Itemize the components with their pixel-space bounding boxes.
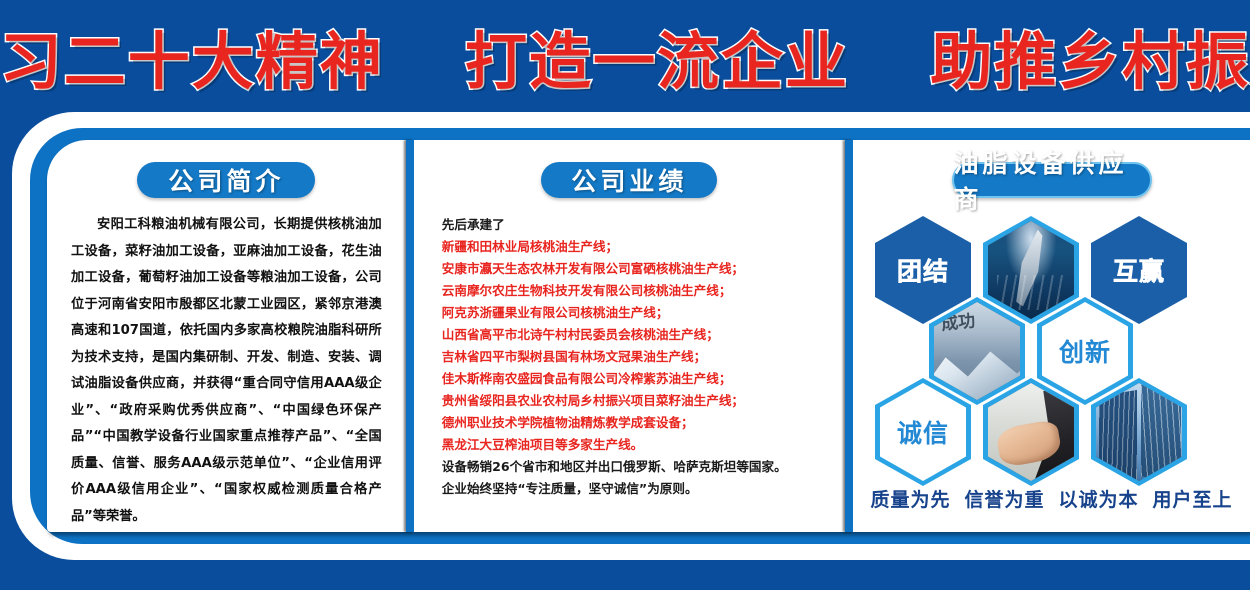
column-divider-1 [406, 140, 414, 532]
performance-project-item: 贵州省绥阳县农业农村局乡村振兴项目菜籽油生产线； [442, 390, 817, 412]
performance-footer-1: 设备畅销26个省市和地区并出口俄罗斯、哈萨克斯坦等国家。 [442, 456, 817, 478]
panel-title-company-intro: 公司简介 [137, 162, 315, 198]
hex-tile-integrity: 诚信 [875, 378, 971, 486]
hex-tile-unity: 团结 [875, 216, 971, 324]
hex-tile-carrier [983, 216, 1079, 324]
skyscraper-photo-icon [1096, 383, 1182, 481]
mountain-climbers-photo-icon [934, 302, 1020, 400]
slogan-word: 信誉为重 [964, 489, 1044, 511]
hex-label-integrity: 诚信 [897, 414, 949, 450]
hex-inner-unity: 团结 [880, 221, 966, 319]
hex-label-unity: 团结 [897, 252, 949, 288]
aircraft-carrier-photo-icon [988, 221, 1074, 319]
panel-title-company-performance: 公司业绩 [541, 162, 717, 198]
hex-tile-innovation: 创新 [1037, 297, 1133, 405]
content-columns: 公司简介 安阳工科粮油机械有限公司，长期提供核桃油加工设备，菜籽油加工设备，亚麻… [47, 140, 1250, 532]
hex-inner-climbers [934, 302, 1020, 400]
slogan-word: 用户至上 [1153, 489, 1233, 511]
panel-company-intro: 公司简介 安阳工科粮油机械有限公司，长期提供核桃油加工设备，菜籽油加工设备，亚麻… [47, 140, 406, 532]
performance-footer-2: 企业始终坚持“专注质量，坚守诚信”为原则。 [442, 478, 817, 500]
hex-tile-climbers [929, 297, 1025, 405]
panel-title-supplier: 油脂设备供应商 [952, 162, 1152, 198]
hex-inner-handshake [988, 383, 1074, 481]
hex-inner-carrier [988, 221, 1074, 319]
hex-label-innovation: 创新 [1059, 333, 1111, 369]
slogan-word: 以诚为本 [1059, 489, 1139, 511]
hex-inner-skyscraper [1096, 383, 1182, 481]
hex-tile-skyscraper [1091, 378, 1187, 486]
header-line-1: 学习二十大精神 [0, 25, 384, 98]
column-divider-2 [845, 140, 853, 532]
performance-project-item: 云南摩尔农庄生物科技开发有限公司核桃油生产线； [442, 280, 817, 302]
performance-project-item: 佳木斯桦南农盛园食品有限公司冷榨紫苏油生产线； [442, 368, 817, 390]
performance-project-list: 新疆和田林业局核桃油生产线；安康市瀛天生态农林开发有限公司富硒核桃油生产线；云南… [442, 236, 817, 456]
header-line-2: 打造一流企业 [465, 25, 849, 98]
hex-label-mutual-win: 互赢 [1113, 252, 1165, 288]
hex-inner-integrity: 诚信 [880, 383, 966, 481]
performance-project-item: 山西省高平市北诗午村村民委员会核桃油生产线； [442, 324, 817, 346]
performance-project-item: 新疆和田林业局核桃油生产线； [442, 236, 817, 258]
panel-supplier-values: 油脂设备供应商 团结 互赢 [853, 140, 1250, 532]
hexagon-cluster: 团结 互赢 [863, 210, 1243, 465]
poster-root: 学习二十大精神 打造一流企业 助推乡村振兴 公司简介 安阳工科粮油机械有限公司，… [0, 0, 1250, 590]
hex-tile-handshake [983, 378, 1079, 486]
performance-project-item: 安康市瀛天生态农林开发有限公司富硒核桃油生产线； [442, 258, 817, 280]
performance-project-item: 吉林省四平市梨树县国有林场文冠果油生产线； [442, 346, 817, 368]
performance-lead: 先后承建了 [442, 214, 817, 236]
hex-inner-mutual-win: 互赢 [1096, 221, 1182, 319]
panel-company-performance: 公司业绩 先后承建了 新疆和田林业局核桃油生产线；安康市瀛天生态农林开发有限公司… [414, 140, 845, 532]
slogan-word: 质量为先 [870, 489, 950, 511]
company-intro-body: 安阳工科粮油机械有限公司，长期提供核桃油加工设备，菜籽油加工设备，亚麻油加工设备… [71, 212, 382, 530]
hex-tile-mutual-win: 互赢 [1091, 216, 1187, 324]
hex-inner-innovation: 创新 [1042, 302, 1128, 400]
performance-body: 先后承建了 新疆和田林业局核桃油生产线；安康市瀛天生态农林开发有限公司富硒核桃油… [442, 214, 817, 500]
supplier-slogan: 质量为先信誉为重以诚为本用户至上 [853, 485, 1250, 512]
performance-project-item: 阿克苏浙疆果业有限公司核桃油生产线； [442, 302, 817, 324]
performance-project-item: 德州职业技术学院植物油精炼教学成套设备； [442, 412, 817, 434]
performance-project-item: 黑龙江大豆榨油项目等多家生产线。 [442, 434, 817, 456]
header-line-3: 助推乡村振兴 [930, 25, 1250, 98]
page-title: 学习二十大精神 打造一流企业 助推乡村振兴 [0, 11, 1250, 101]
poster-header: 学习二十大精神 打造一流企业 助推乡村振兴 [0, 0, 1250, 112]
handshake-photo-icon [988, 383, 1074, 481]
